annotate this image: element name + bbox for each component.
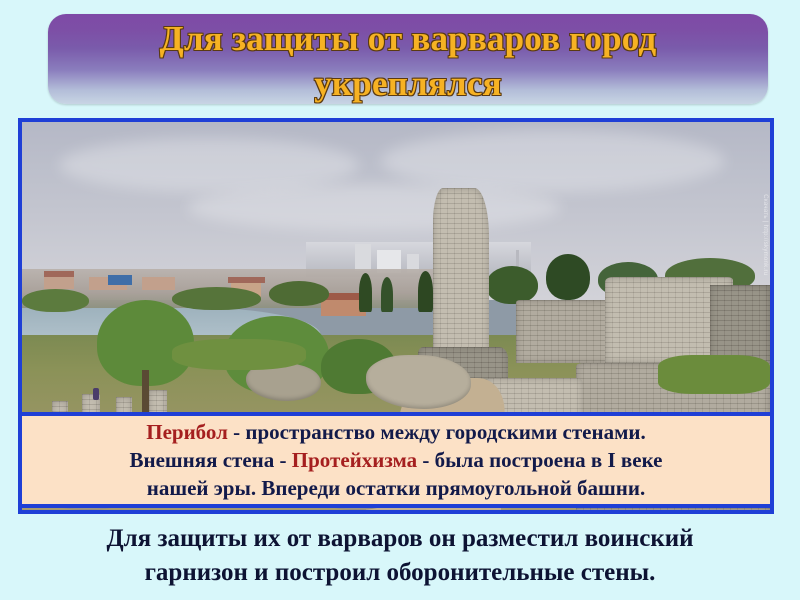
caption-segment: - пространство между городскими стенами. <box>228 420 646 444</box>
caption-segment: нашей эры. Впереди остатки прямоугольной… <box>147 476 646 500</box>
caption-keyword: Перибол <box>146 420 228 444</box>
tree-cluster <box>269 281 329 306</box>
watermark-text: Скачать | http://skymonk.ru <box>762 194 768 275</box>
grass-patch <box>172 339 307 370</box>
caption-segment: - была построена в I веке <box>417 448 662 472</box>
caption-segment: Внешняя стена - <box>130 448 292 472</box>
town-roof <box>44 271 74 276</box>
grass-patch <box>658 355 770 394</box>
cypress-tree <box>359 273 372 312</box>
town-building-blue <box>108 275 132 285</box>
tree-cluster <box>486 266 538 305</box>
caption-line: нашей эры. Впереди остатки прямоугольной… <box>30 474 762 502</box>
title-banner: Для защиты от варваров город укреплялся <box>48 14 768 104</box>
town-roof <box>228 277 265 282</box>
body-text: Для защиты их от варваров он разместил в… <box>10 522 790 590</box>
town-house <box>142 277 176 290</box>
caption-line: Внешняя стена - Протейхизма - была постр… <box>30 446 762 474</box>
cloud-shape <box>381 130 725 192</box>
slide-root: Для защиты от варваров город укреплялся <box>0 0 800 600</box>
cloud-shape <box>187 184 561 231</box>
distant-building <box>355 244 371 271</box>
caption-keyword: Протейхизма <box>292 448 417 472</box>
tree-cluster <box>22 289 89 312</box>
person-figure <box>93 388 99 400</box>
cypress-tree <box>418 271 433 312</box>
tree-cluster <box>546 254 591 301</box>
cloud-shape <box>59 138 358 192</box>
tree-cluster <box>172 287 262 310</box>
caption-text: Перибол - пространство между городскими … <box>22 418 770 502</box>
page-title: Для защиты от варваров город укреплялся <box>48 16 768 104</box>
caption-line: Перибол - пространство между городскими … <box>30 418 762 446</box>
cypress-tree <box>381 277 393 312</box>
caption-box: Перибол - пространство между городскими … <box>18 412 774 508</box>
town-house <box>44 275 74 289</box>
